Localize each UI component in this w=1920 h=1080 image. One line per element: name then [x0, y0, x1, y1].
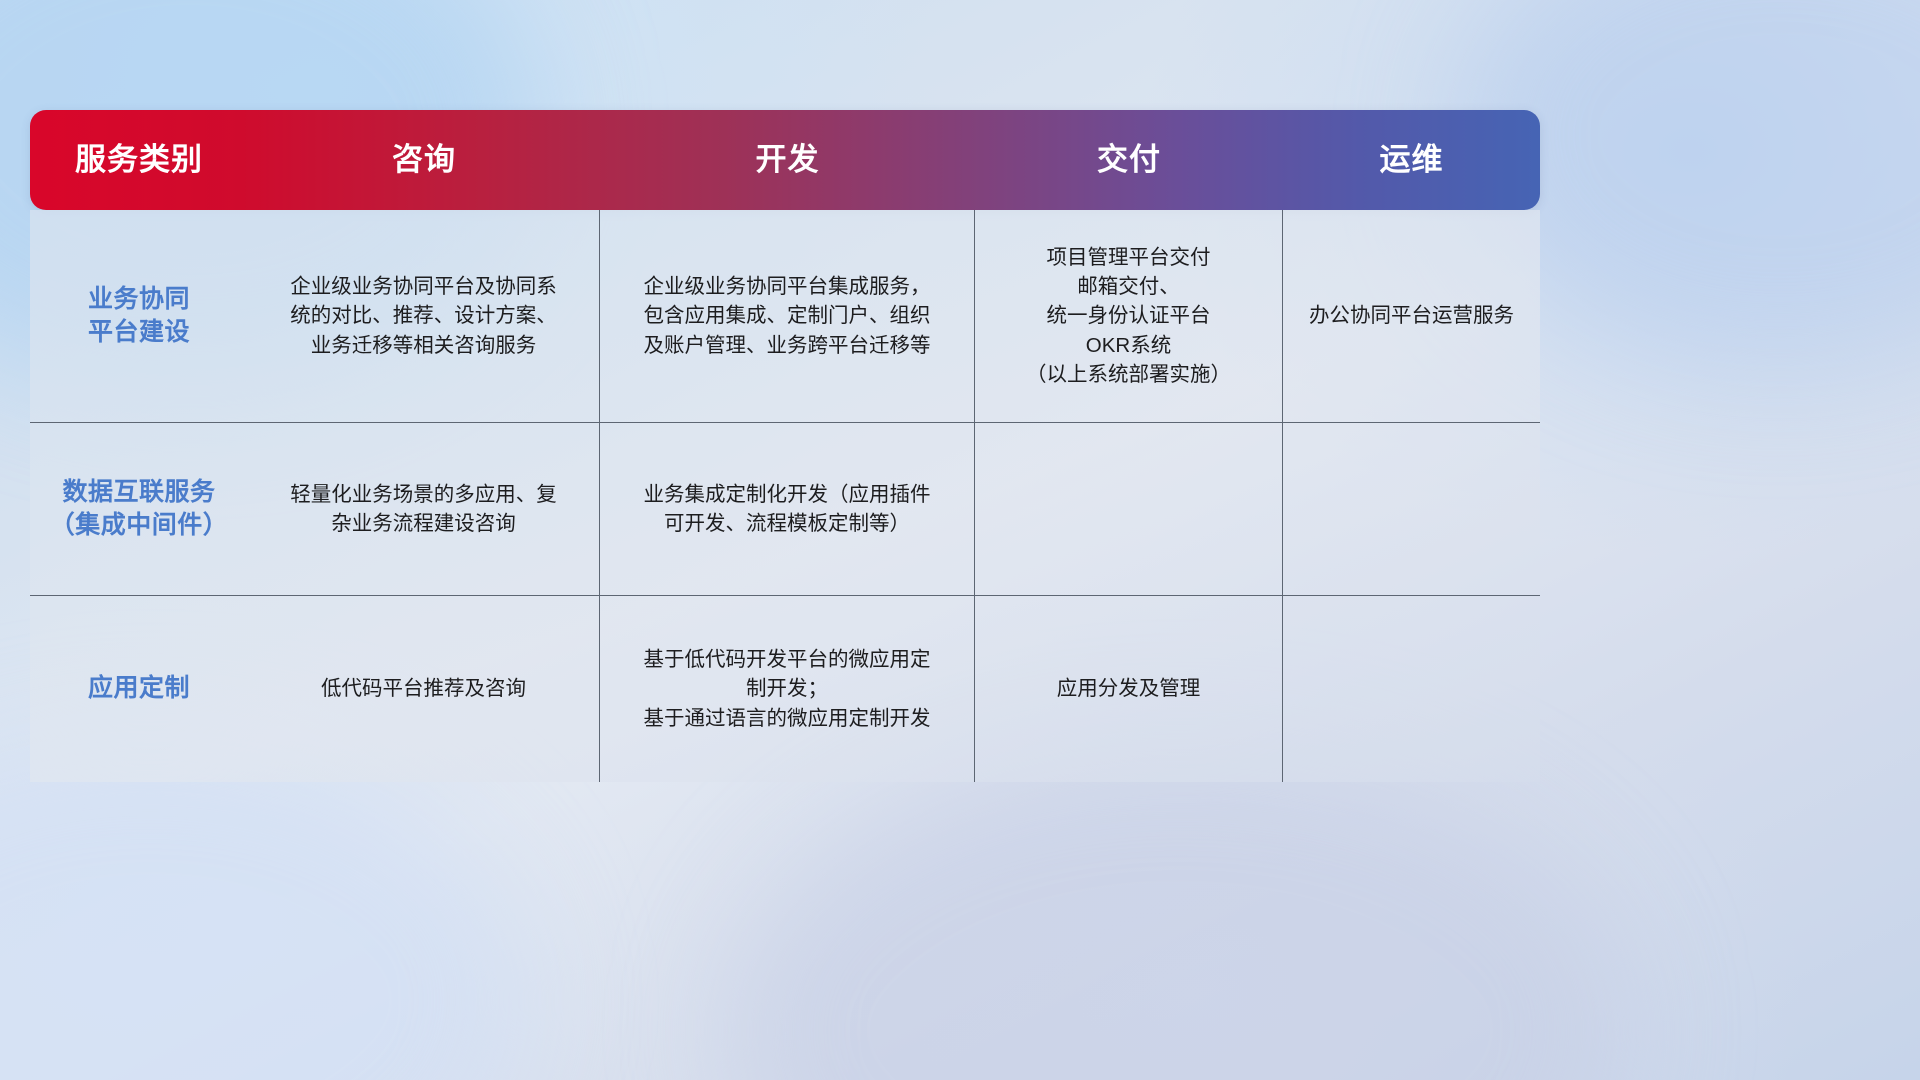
cell-development: 业务集成定制化开发（应用插件 可开发、流程模板定制等） [600, 423, 975, 595]
column-header-operations: 运维 [1283, 143, 1540, 177]
cell-operations [1283, 596, 1540, 782]
row-category-label: 应用定制 [30, 596, 248, 782]
cell-development: 基于低代码开发平台的微应用定 制开发； 基于通过语言的微应用定制开发 [600, 596, 975, 782]
cell-consulting: 低代码平台推荐及咨询 [248, 596, 600, 782]
cell-delivery [975, 423, 1283, 595]
column-header-category: 服务类别 [30, 143, 248, 177]
row-category-label: 业务协同 平台建设 [30, 210, 248, 422]
column-header-development: 开发 [600, 143, 975, 177]
cell-development: 企业级业务协同平台集成服务， 包含应用集成、定制门户、组织 及账户管理、业务跨平… [600, 210, 975, 422]
table-row: 数据互联服务 （集成中间件） 轻量化业务场景的多应用、复 杂业务流程建设咨询 业… [30, 423, 1540, 596]
cell-consulting: 轻量化业务场景的多应用、复 杂业务流程建设咨询 [248, 423, 600, 595]
background-blob-bottom-left [0, 740, 530, 1080]
column-header-delivery: 交付 [975, 143, 1283, 177]
table-body: 业务协同 平台建设 企业级业务协同平台及协同系 统的对比、推荐、设计方案、 业务… [30, 210, 1540, 782]
table-row: 应用定制 低代码平台推荐及咨询 基于低代码开发平台的微应用定 制开发； 基于通过… [30, 596, 1540, 782]
cell-consulting: 企业级业务协同平台及协同系 统的对比、推荐、设计方案、 业务迁移等相关咨询服务 [248, 210, 600, 422]
background-blob-bottom-center [730, 750, 1630, 1080]
slide-canvas: 服务类别 咨询 开发 交付 运维 业务协同 平台建设 企业级业务协同平台及协同系… [0, 0, 1920, 1080]
cell-delivery: 应用分发及管理 [975, 596, 1283, 782]
cell-operations: 办公协同平台运营服务 [1283, 210, 1540, 422]
row-category-label: 数据互联服务 （集成中间件） [30, 423, 248, 595]
cell-operations [1283, 423, 1540, 595]
service-matrix-table: 服务类别 咨询 开发 交付 运维 业务协同 平台建设 企业级业务协同平台及协同系… [30, 110, 1540, 780]
table-header-row: 服务类别 咨询 开发 交付 运维 [30, 110, 1540, 210]
table-row: 业务协同 平台建设 企业级业务协同平台及协同系 统的对比、推荐、设计方案、 业务… [30, 210, 1540, 423]
cell-delivery: 项目管理平台交付 邮箱交付、 统一身份认证平台 OKR系统 （以上系统部署实施） [975, 210, 1283, 422]
column-header-consulting: 咨询 [248, 143, 600, 177]
